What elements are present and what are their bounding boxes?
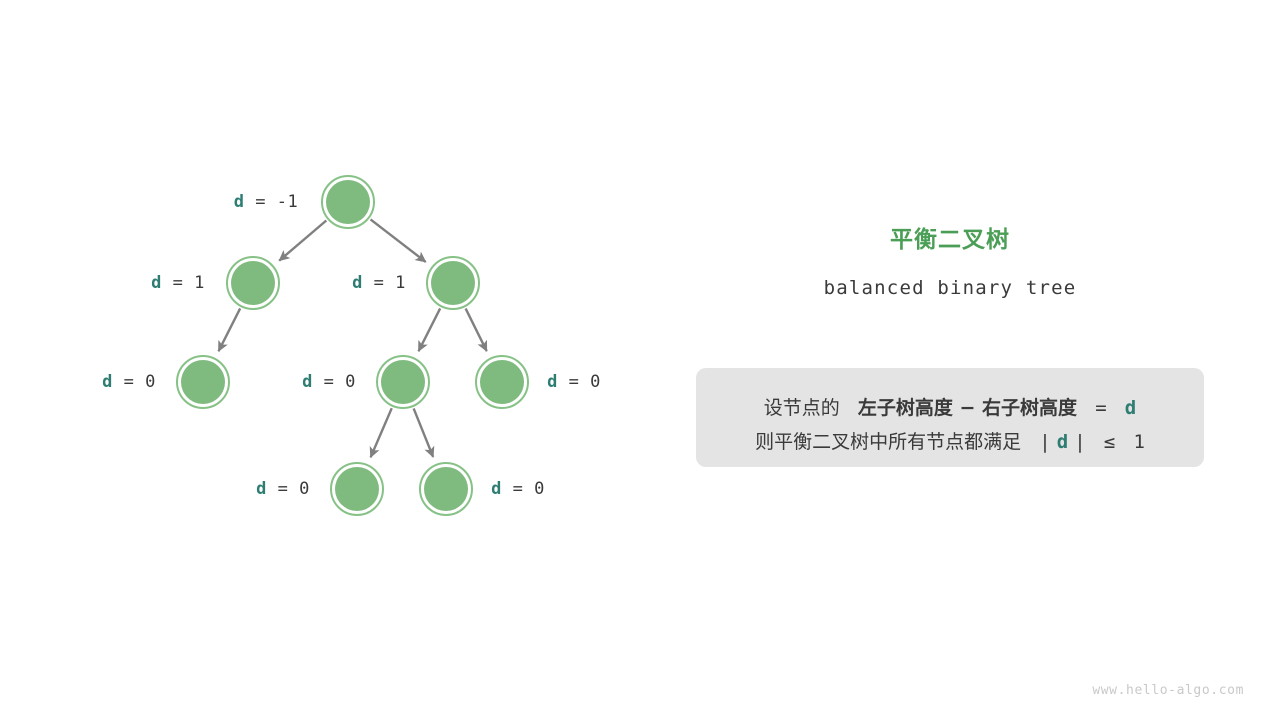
- tree-node[interactable]: [231, 261, 275, 305]
- tree-node[interactable]: [431, 261, 475, 305]
- abs-bar-close: |: [1074, 431, 1085, 453]
- tree-svg: [0, 0, 660, 720]
- node-label-variable: d: [352, 273, 363, 293]
- info-panel: 平衡二叉树 balanced binary tree 设节点的 左子树高度 − …: [696, 225, 1204, 299]
- node-label-value: = 0: [313, 372, 356, 392]
- node-label-value: = 0: [267, 479, 310, 499]
- tree-node[interactable]: [181, 360, 225, 404]
- definition-variable-d-abs: d: [1057, 431, 1068, 453]
- node-label-variable: d: [102, 372, 113, 392]
- node-label-value: = 1: [162, 273, 205, 293]
- tree-node-label: d = 0: [102, 372, 156, 392]
- definition-prefix-1: 设节点的: [764, 397, 840, 419]
- node-label-variable: d: [151, 273, 162, 293]
- tree-node-label: d = 0: [547, 372, 601, 392]
- node-label-value: = -1: [245, 192, 299, 212]
- tree-edge: [414, 408, 434, 457]
- definition-formula: 左子树高度 − 右子树高度: [858, 397, 1077, 419]
- tree-node[interactable]: [326, 180, 370, 224]
- tree-node[interactable]: [480, 360, 524, 404]
- node-label-variable: d: [234, 192, 245, 212]
- tree-nodes: [177, 176, 528, 515]
- tree-edge: [371, 219, 426, 262]
- definition-equals: =: [1095, 397, 1106, 419]
- tree-edge: [219, 308, 241, 351]
- page-subtitle: balanced binary tree: [696, 277, 1204, 299]
- node-label-variable: d: [256, 479, 267, 499]
- diagram-canvas: d = -1d = 1d = 1d = 0d = 0d = 0d = 0d = …: [0, 0, 1280, 720]
- tree-node-label: d = -1: [234, 192, 298, 212]
- definition-line-1: 设节点的 左子树高度 − 右子树高度 = d: [696, 393, 1204, 420]
- page-title: 平衡二叉树: [696, 225, 1204, 255]
- tree-edges: [219, 219, 487, 457]
- node-label-value: = 0: [113, 372, 156, 392]
- node-label-value: = 1: [363, 273, 406, 293]
- tree-node-label: d = 0: [256, 479, 310, 499]
- node-label-variable: d: [491, 479, 502, 499]
- tree-node-label: d = 1: [352, 273, 406, 293]
- site-watermark: www.hello-algo.com: [1092, 683, 1244, 698]
- node-label-value: = 0: [502, 479, 545, 499]
- tree-node[interactable]: [424, 467, 468, 511]
- definition-bound-value: 1: [1133, 431, 1144, 453]
- tree-edge: [371, 408, 392, 457]
- node-label-variable: d: [547, 372, 558, 392]
- tree-node[interactable]: [335, 467, 379, 511]
- abs-bar-open: |: [1039, 431, 1050, 453]
- definition-less-equal: ≤: [1104, 431, 1115, 453]
- definition-prefix-2: 则平衡二叉树中所有节点都满足: [755, 431, 1021, 453]
- definition-box: 设节点的 左子树高度 − 右子树高度 = d 则平衡二叉树中所有节点都满足 | …: [696, 368, 1204, 467]
- node-label-variable: d: [302, 372, 313, 392]
- tree-node-label: d = 1: [151, 273, 205, 293]
- definition-line-2: 则平衡二叉树中所有节点都满足 | d | ≤ 1: [696, 427, 1204, 454]
- tree-edge: [279, 220, 326, 260]
- tree-node-label: d = 0: [491, 479, 545, 499]
- definition-variable-d: d: [1125, 397, 1136, 419]
- tree-edge: [466, 309, 487, 352]
- tree-node[interactable]: [381, 360, 425, 404]
- tree-diagram: d = -1d = 1d = 1d = 0d = 0d = 0d = 0d = …: [0, 0, 660, 720]
- tree-edge: [419, 308, 441, 351]
- tree-node-label: d = 0: [302, 372, 356, 392]
- node-label-value: = 0: [558, 372, 601, 392]
